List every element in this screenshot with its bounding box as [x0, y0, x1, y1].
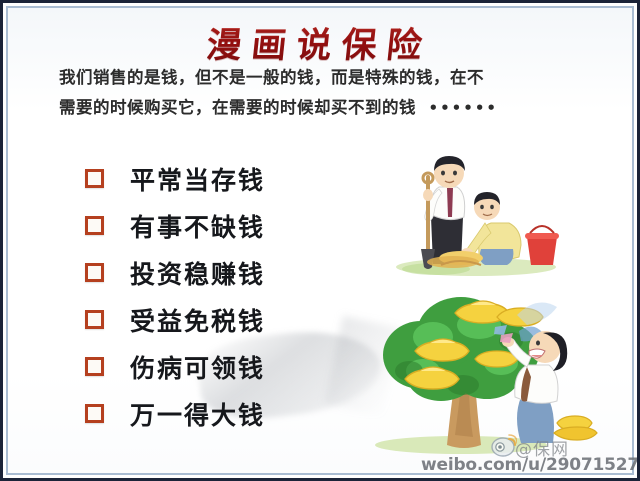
list-item-label: 伤病可领钱 [130, 349, 265, 385]
weibo-url-watermark: weibo.com/u/2907152747 [421, 455, 640, 475]
illustration-money-tree [351, 285, 601, 457]
list-item: 伤病可领钱 [85, 343, 365, 390]
checkbox-square-icon [85, 310, 104, 329]
list-item: 有事不缺钱 [85, 202, 365, 249]
list-item-label: 有事不缺钱 [130, 208, 265, 244]
checkbox-square-icon [85, 169, 104, 188]
checkbox-square-icon [85, 263, 104, 282]
checkbox-square-icon [85, 357, 104, 376]
list-item: 万一得大钱 [85, 390, 365, 437]
intro-line-1: 我们销售的是钱，但不是一般的钱，而是特殊的钱，在不 [59, 63, 589, 93]
list-item: 平常当存钱 [85, 155, 365, 202]
intro-paragraph: 我们销售的是钱，但不是一般的钱，而是特殊的钱，在不 需要的时候购买它，在需要的时… [59, 63, 589, 123]
list-item-label: 平常当存钱 [130, 161, 265, 197]
intro-line-2-wrap: 需要的时候购买它，在需要的时候却买不到的钱 •••••• [59, 93, 589, 123]
intro-line-2: 需要的时候购买它，在需要的时候却买不到的钱 [59, 98, 416, 117]
checkbox-square-icon [85, 404, 104, 423]
list-item-label: 投资稳赚钱 [130, 255, 265, 291]
benefit-list: 平常当存钱 有事不缺钱 投资稳赚钱 受益免税钱 伤病可领钱 万一得大钱 [85, 155, 365, 437]
checkbox-square-icon [85, 216, 104, 235]
weibo-logo-icon [491, 433, 517, 457]
page-title: 漫画说保险 [205, 17, 435, 68]
list-item-label: 受益免税钱 [130, 302, 265, 338]
intro-trailing-dots: •••••• [429, 99, 499, 117]
poster-title-area: 漫画说保险 [3, 17, 637, 68]
illustration-two-men-planting [381, 145, 581, 280]
list-item: 受益免税钱 [85, 296, 365, 343]
list-item-label: 万一得大钱 [130, 396, 265, 432]
list-item: 投资稳赚钱 [85, 249, 365, 296]
poster-image: 漫画说保险 我们销售的是钱，但不是一般的钱，而是特殊的钱，在不 需要的时候购买它… [0, 0, 640, 481]
